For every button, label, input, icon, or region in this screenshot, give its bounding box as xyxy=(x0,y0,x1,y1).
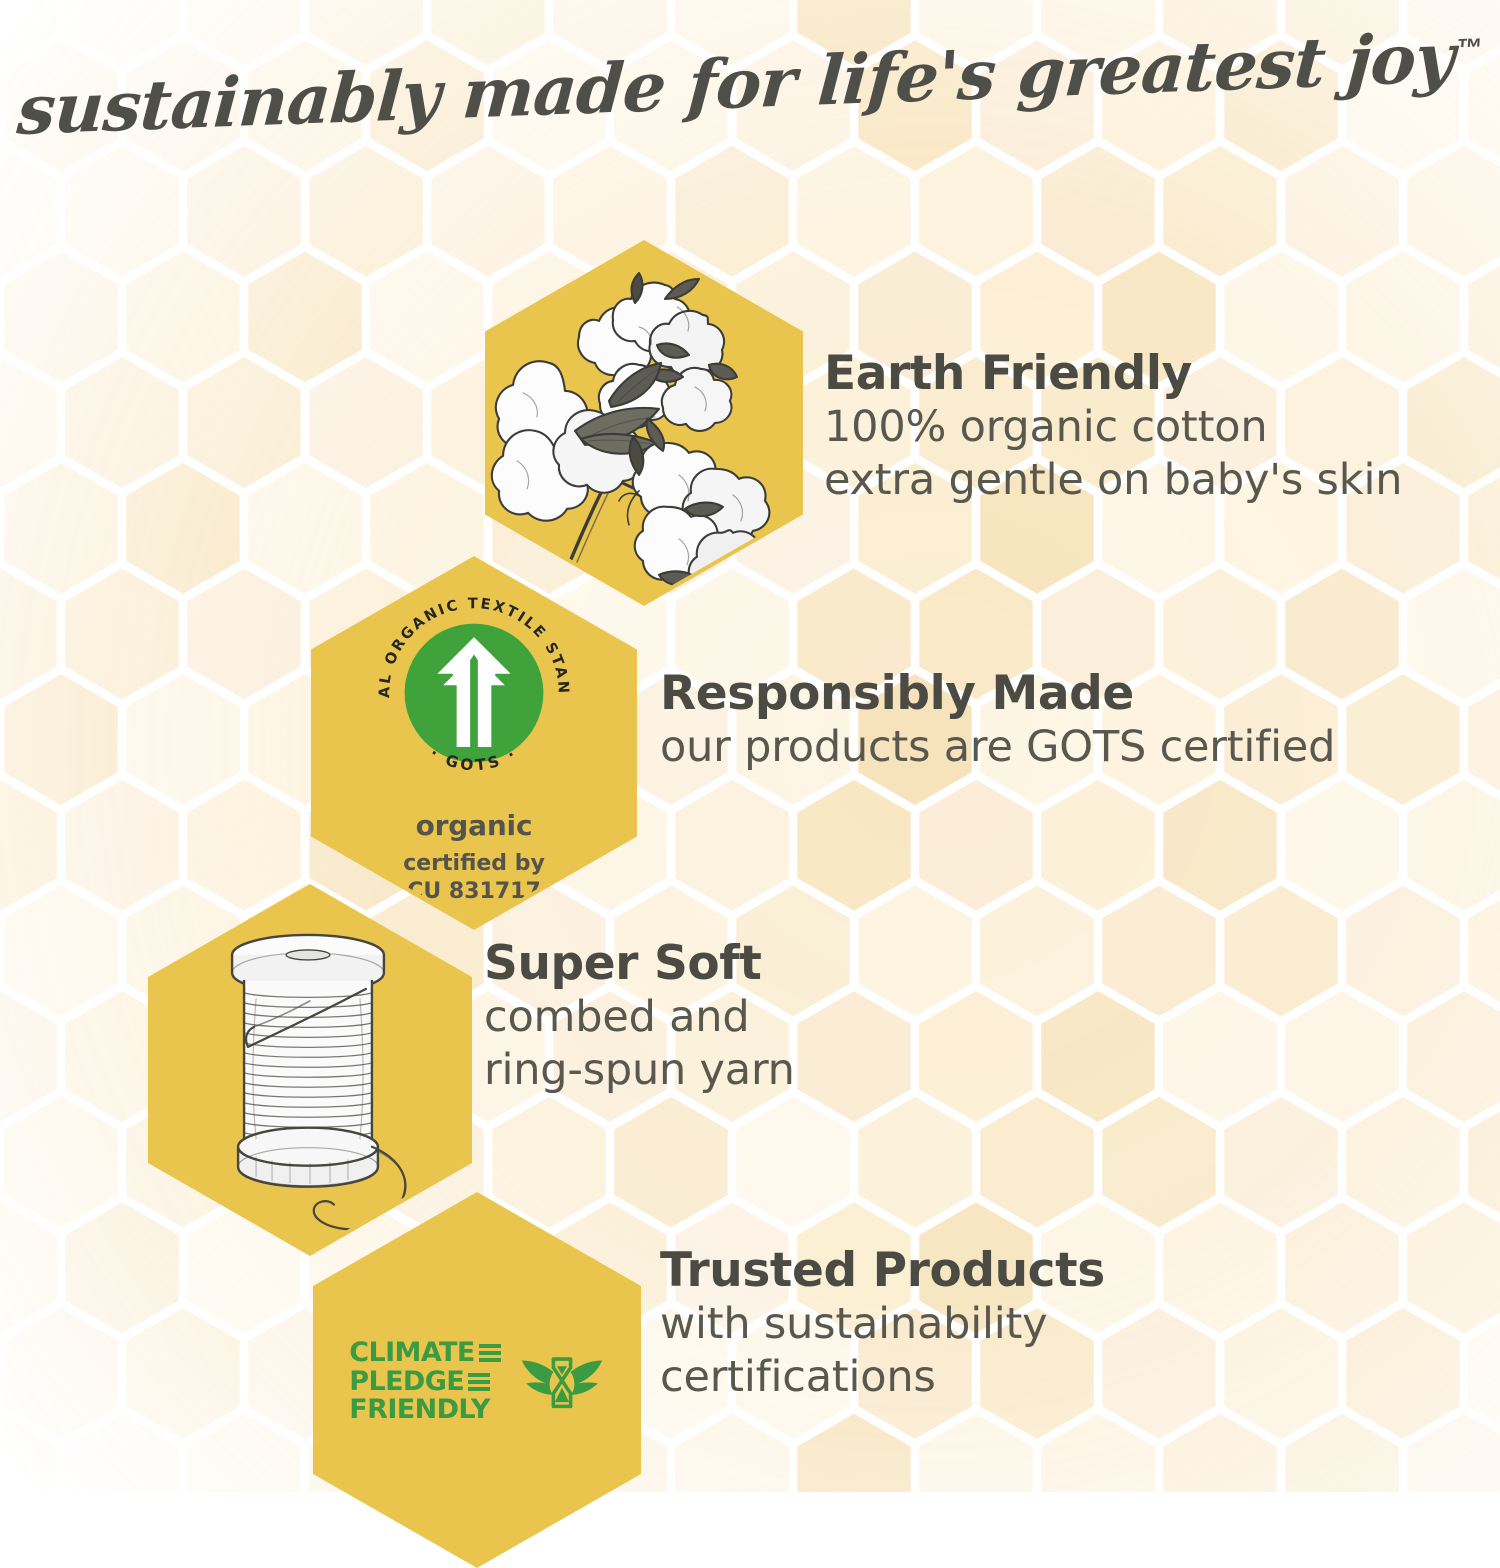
climate-pledge-wordmark: CLIMATE PLEDGE FRIENDLY xyxy=(349,1339,500,1425)
feature-title: Trusted Products xyxy=(660,1245,1105,1298)
page-title: sustainably made for life's greatest joy… xyxy=(15,17,1485,151)
cpf-bars-icon xyxy=(468,1373,490,1391)
cpf-bars-icon xyxy=(479,1344,501,1362)
gots-badge: GLOBAL ORGANIC TEXTILE STANDARD · GOTS ·… xyxy=(368,587,580,906)
headline-text: sustainably made for life's greatest joy xyxy=(15,18,1457,151)
feature-title: Responsibly Made xyxy=(660,668,1335,721)
gots-organic-label: organic xyxy=(416,809,533,842)
feature-line: extra gentle on baby's skin xyxy=(824,454,1402,507)
gots-certified-by-label: certified by xyxy=(403,850,545,878)
feature-icon-cotton-plant xyxy=(489,245,799,602)
feature-text-earth-friendly: Earth Friendly 100% organic cotton extra… xyxy=(824,348,1402,507)
feature-title: Super Soft xyxy=(484,938,795,991)
trademark-symbol: ™ xyxy=(1456,32,1484,63)
feature-line: our products are GOTS certified xyxy=(660,721,1335,774)
cpf-line-1: CLIMATE xyxy=(349,1339,474,1368)
cpf-line-2: PLEDGE xyxy=(349,1368,464,1397)
feature-icon-climate-pledge: CLIMATE PLEDGE FRIENDLY xyxy=(317,1197,637,1564)
feature-icon-thread-spool xyxy=(152,889,468,1252)
feature-title: Earth Friendly xyxy=(824,348,1402,401)
headline-container: sustainably made for life's greatest joy… xyxy=(0,44,1500,124)
feature-icon-gots-badge: GLOBAL ORGANIC TEXTILE STANDARD · GOTS ·… xyxy=(315,561,633,926)
feature-text-super-soft: Super Soft combed and ring-spun yarn xyxy=(484,938,795,1097)
climate-pledge-friendly-badge: CLIMATE PLEDGE FRIENDLY xyxy=(349,1339,604,1425)
feature-line: combed and xyxy=(484,991,795,1044)
gots-certifier-code: CU 831717 xyxy=(403,878,545,906)
feature-text-trusted-products: Trusted Products with sustainability cer… xyxy=(660,1245,1105,1404)
winged-hourglass-icon xyxy=(519,1346,605,1418)
gots-seal-icon: GLOBAL ORGANIC TEXTILE STANDARD · GOTS · xyxy=(368,587,580,799)
cotton-plant-illustration xyxy=(489,245,799,602)
feature-text-responsibly-made: Responsibly Made our products are GOTS c… xyxy=(660,668,1335,774)
feature-line: certifications xyxy=(660,1351,1105,1404)
cpf-line-3: FRIENDLY xyxy=(349,1396,489,1425)
feature-line: with sustainability xyxy=(660,1298,1105,1351)
feature-line: 100% organic cotton xyxy=(824,401,1402,454)
thread-spool-illustration xyxy=(152,889,468,1252)
feature-line: ring-spun yarn xyxy=(484,1044,795,1097)
